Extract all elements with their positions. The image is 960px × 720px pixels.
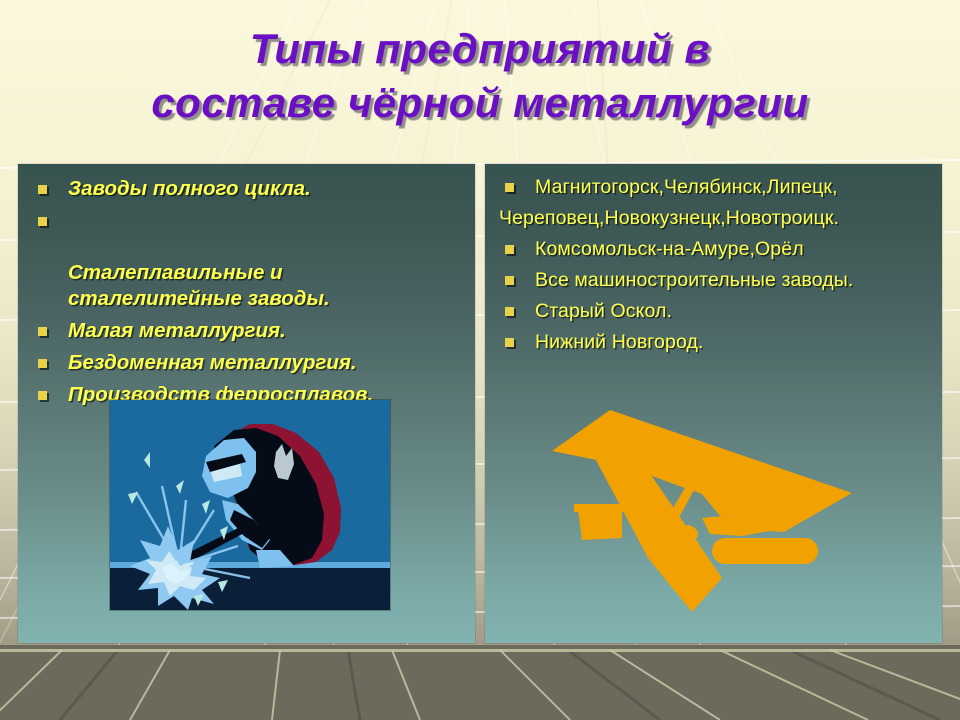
bullet-square-icon [505, 307, 514, 316]
welder-illustration [110, 400, 390, 610]
list-item-label: Бездоменная металлургия. [68, 351, 357, 374]
bullet-square-icon [38, 327, 47, 336]
list-item-label: Старый Оскол. [535, 300, 672, 322]
list-item-label: Комсомольск-на-Амуре,Орёл [535, 238, 804, 260]
list-item: Все машиностроительные заводы. [485, 267, 942, 294]
bullet-square-icon [505, 276, 514, 285]
bullet-square-icon [38, 391, 47, 400]
page-title: Типы предприятий в составе чёрной металл… [0, 22, 960, 130]
panel-enterprise-types: Заводы полного цикла. Сталеплавильные и … [18, 164, 475, 643]
floor-band [0, 645, 960, 720]
crane-silhouette-icon [552, 398, 864, 614]
list-item-label: Нижний Новгород. [535, 331, 703, 353]
list-item: Комсомольск-на-Амуре,Орёл [485, 236, 942, 263]
enterprise-types-list: Заводы полного цикла. Сталеплавильные и … [18, 176, 475, 408]
bullet-square-icon [38, 359, 47, 368]
list-item: Нижний Новгород. [485, 329, 942, 356]
list-item-label: Малая металлургия. [68, 319, 286, 342]
panel-enterprise-examples: Магнитогорск,Челябинск,Липецк, Череповец… [485, 164, 942, 643]
list-item: Малая металлургия. [18, 318, 475, 344]
bullet-square-icon [505, 338, 514, 347]
list-item: Сталеплавильные и сталелитейные заводы. [18, 208, 475, 312]
list-item-label: Череповец,Новокузнецк,Новотроицк. [499, 207, 839, 229]
list-item-label: Магнитогорск,Челябинск,Липецк, [535, 176, 838, 198]
bullet-square-icon [38, 217, 47, 226]
list-item-label: Сталеплавильные и сталелитейные заводы. [68, 261, 330, 310]
list-item: Заводы полного цикла. [18, 176, 475, 202]
slide-canvas: Типы предприятий в составе чёрной металл… [0, 0, 960, 720]
bullet-square-icon [505, 245, 514, 254]
list-item-continuation: Череповец,Новокузнецк,Новотроицк. [485, 205, 942, 232]
bullet-square-icon [38, 185, 47, 194]
bullet-square-icon [505, 183, 514, 192]
floor-horizon-line [0, 649, 960, 652]
list-item-label: Заводы полного цикла. [68, 177, 311, 200]
list-item: Старый Оскол. [485, 298, 942, 325]
list-item-label: Все машиностроительные заводы. [535, 269, 853, 291]
list-item: Бездоменная металлургия. [18, 350, 475, 376]
list-item: Магнитогорск,Челябинск,Липецк, [485, 174, 942, 201]
enterprise-examples-list: Магнитогорск,Челябинск,Липецк, Череповец… [485, 174, 942, 356]
